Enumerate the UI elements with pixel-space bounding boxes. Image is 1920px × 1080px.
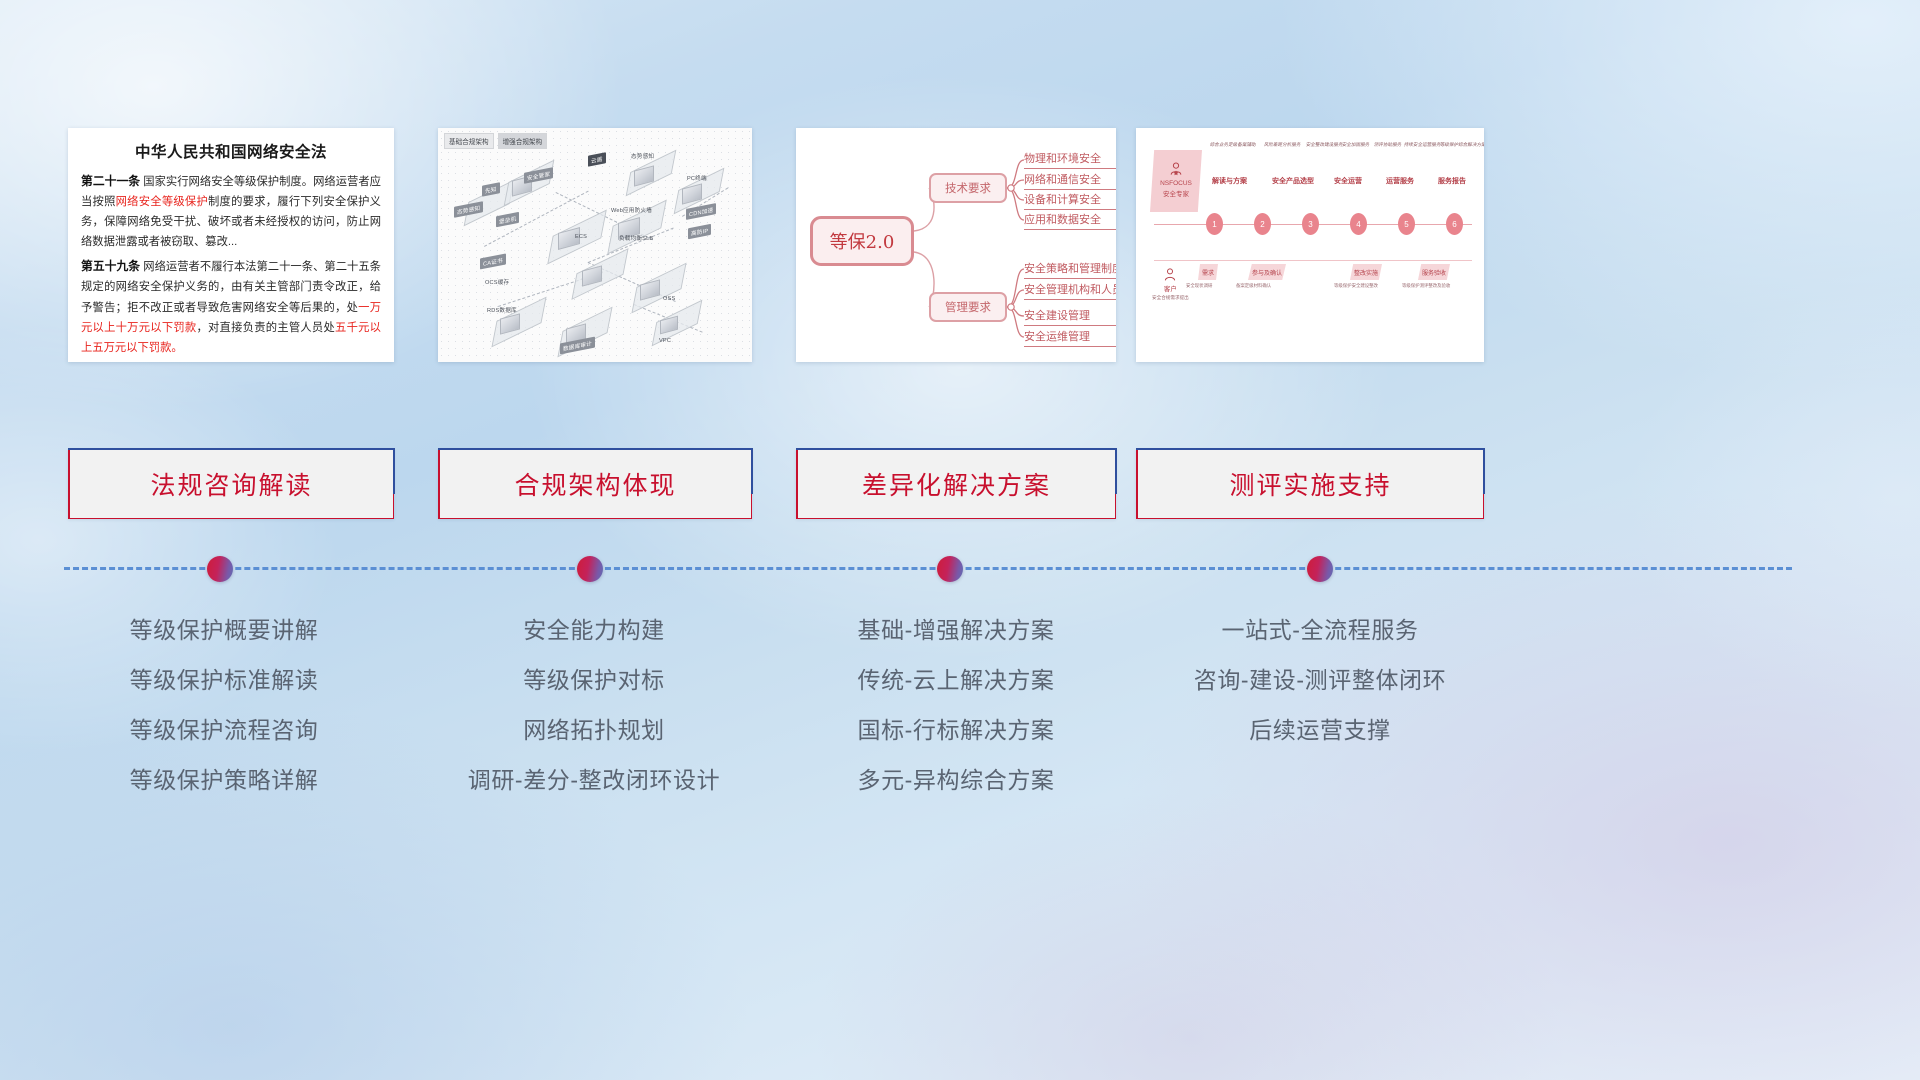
mindmap-branch-technical: 技术要求 [929, 173, 1007, 203]
roadmap-stage-label: 解读与方案 [1212, 176, 1247, 186]
illustration-cards-row: 中华人民共和国网络安全法 第二十一条 国家实行网络安全等级保护制度。网络运营者应… [0, 128, 1920, 362]
architecture-label-ocs: OCS缓存 [482, 276, 512, 287]
mindmap-branch-management: 管理要求 [929, 292, 1007, 322]
roadmap-stage-label: 运营服务 [1386, 176, 1414, 186]
law-article-59: 第五十九条 网络运营者不履行本法第二十一条、第二十五条规定的网络安全保护义务的，… [81, 256, 381, 357]
list-evaluation-support: 一站式-全流程服务 咨询-建设-测评整体闭环 后续运营支撑 [1146, 605, 1494, 755]
architecture-label-oss: OSS [660, 294, 678, 303]
roadmap-step-1: 1 [1206, 213, 1223, 235]
roadmap-tag-requirement: 需求 [1198, 264, 1218, 280]
list-item: 等级保护概要讲解 [54, 605, 394, 655]
list-compliance-architecture: 安全能力构建 等级保护对标 网络拓扑规划 调研-差分-整改闭环设计 [424, 605, 764, 805]
card-compliance-architecture: 基础合规架构 增强合规架构 [438, 128, 752, 362]
section-headings-row: 法规咨询解读 合规架构体现 差异化解决方案 测评实施支持 [0, 449, 1920, 519]
roadmap-diagram: NSFOCUS 安全专家 综合业务定级备案辅助 风险差距分析服务 安全整改建设服… [1136, 128, 1484, 362]
roadmap-tag-confirm: 参与及确认 [1248, 264, 1286, 280]
roadmap-tagsub-requirement: 安全现状调研 [1186, 283, 1212, 289]
roadmap-expert-badge: NSFOCUS 安全专家 [1150, 150, 1202, 212]
heading-top-accent [1136, 448, 1484, 450]
mindmap-leaf-construction-mgmt: 安全建设管理 [1024, 307, 1116, 326]
law-document: 中华人民共和国网络安全法 第二十一条 国家实行网络安全等级保护制度。网络运营者应… [68, 128, 394, 358]
mindmap-leaf-ops-mgmt: 安全运维管理 [1024, 328, 1116, 347]
roadmap-top-label: 测评协助服务 [1374, 142, 1403, 148]
roadmap-tagsub-acceptance: 等级保护测评整改及验收 [1402, 283, 1450, 289]
card-nsfocus-roadmap: NSFOCUS 安全专家 综合业务定级备案辅助 风险差距分析服务 安全整改建设服… [1136, 128, 1484, 362]
law-article-59-number: 第五十九条 [81, 259, 140, 273]
mindmap-leaf-device-compute: 设备和计算安全 [1024, 191, 1116, 210]
list-item: 咨询-建设-测评整体闭环 [1146, 655, 1494, 705]
list-regulation-consulting: 等级保护概要讲解 等级保护标准解读 等级保护流程咨询 等级保护策略详解 [54, 605, 394, 805]
list-item: 传统-云上解决方案 [786, 655, 1126, 705]
mindmap: 等保2.0 技术要求 管理要求 物理和环境安全 网络和通信安全 设备和计算安全 … [796, 128, 1116, 362]
law-title: 中华人民共和国网络安全法 [81, 140, 381, 162]
roadmap-top-label: 持续安全运营服务 [1404, 142, 1442, 148]
architecture-label-vpc: VPC [656, 336, 674, 345]
roadmap-top-label: 综合业务定级备案辅助 [1210, 142, 1257, 148]
architecture-tabs: 基础合规架构 增强合规架构 [444, 133, 547, 149]
roadmap-stage-label: 安全产品选型 [1272, 176, 1314, 186]
person-star-icon [1169, 162, 1183, 178]
list-item: 基础-增强解决方案 [786, 605, 1126, 655]
roadmap-customer-label: 客户 [1152, 285, 1189, 294]
roadmap-tagsub-confirm: 备案定级材料确认 [1236, 283, 1271, 289]
roadmap-step-6: 6 [1446, 213, 1463, 235]
list-item: 调研-差分-整改闭环设计 [424, 755, 764, 805]
roadmap-step-4: 4 [1350, 213, 1367, 235]
roadmap-customer-sub: 安全合规需求提出 [1152, 295, 1189, 302]
tab-basic-architecture[interactable]: 基础合规架构 [444, 133, 494, 149]
list-differentiated-solution: 基础-增强解决方案 传统-云上解决方案 国标-行标解决方案 多元-异构综合方案 [786, 605, 1126, 805]
architecture-diagram: 基础合规架构 增强合规架构 [438, 128, 752, 362]
law-article-21: 第二十一条 国家实行网络安全等级保护制度。网络运营者应当按照网络安全等级保护制度… [81, 171, 381, 252]
list-item: 国标-行标解决方案 [786, 705, 1126, 755]
heading-box-compliance-architecture[interactable]: 合规架构体现 [438, 449, 752, 519]
heading-right-accent [1483, 448, 1485, 494]
roadmap-step-3: 3 [1302, 213, 1319, 235]
mindmap-leaf-network-comm: 网络和通信安全 [1024, 171, 1116, 190]
list-item: 等级保护标准解读 [54, 655, 394, 705]
heading-top-accent [68, 448, 394, 450]
roadmap-tagsub-rectify: 等级保护安全建设整改 [1334, 283, 1378, 289]
mindmap-leaf-physical-env: 物理和环境安全 [1024, 150, 1116, 169]
timeline-dot-4[interactable] [1307, 556, 1333, 582]
architecture-label-rds: RDS数据库 [484, 304, 520, 315]
roadmap-step-2: 2 [1254, 213, 1271, 235]
roadmap-badge-line2: 安全专家 [1163, 190, 1189, 200]
architecture-label-situation-2: 态势感知 [628, 150, 657, 161]
timeline-dashed-line [64, 567, 1792, 570]
heading-right-accent [1115, 448, 1117, 494]
timeline-dot-1[interactable] [207, 556, 233, 582]
list-item: 网络拓扑规划 [424, 705, 764, 755]
roadmap-top-label: 风险差距分析服务 [1264, 142, 1302, 148]
list-item: 安全能力构建 [424, 605, 764, 655]
heading-right-accent [393, 448, 395, 494]
list-item: 等级保护对标 [424, 655, 764, 705]
list-item: 多元-异构综合方案 [786, 755, 1126, 805]
heading-top-accent [438, 448, 752, 450]
card-dengbao-mindmap: 等保2.0 技术要求 管理要求 物理和环境安全 网络和通信安全 设备和计算安全 … [796, 128, 1116, 362]
architecture-label-pc-terminal: PC终端 [684, 172, 710, 183]
heading-label: 测评实施支持 [1229, 466, 1391, 502]
timeline-dot-2[interactable] [577, 556, 603, 582]
roadmap-customer: 客户 安全合规需求提出 [1152, 268, 1189, 302]
roadmap-top-label: 安全加固服务 [1342, 142, 1371, 148]
timeline-dot-3[interactable] [937, 556, 963, 582]
roadmap-tag-acceptance: 服务验收 [1418, 264, 1450, 280]
heading-label: 差异化解决方案 [862, 466, 1051, 502]
heading-right-accent [751, 448, 753, 494]
heading-label: 法规咨询解读 [150, 466, 312, 502]
list-item: 等级保护策略详解 [54, 755, 394, 805]
list-item: 后续运营支撑 [1146, 705, 1494, 755]
law-article-21-number: 第二十一条 [81, 174, 140, 188]
roadmap-stage-label: 服务报告 [1438, 176, 1466, 186]
roadmap-top-label: 等级保护综合解决方案 [1440, 142, 1484, 148]
list-item: 等级保护流程咨询 [54, 705, 394, 755]
customer-person-icon [1163, 268, 1177, 282]
heading-box-regulation-consulting[interactable]: 法规咨询解读 [68, 449, 394, 519]
roadmap-top-label: 安全整改建设服务 [1306, 142, 1344, 148]
architecture-label-slb: 负载均衡SLB [616, 232, 656, 243]
mindmap-root-node: 等保2.0 [810, 216, 914, 266]
roadmap-tag-rectify: 整改实施 [1350, 264, 1382, 280]
mindmap-leaf-org-personnel: 安全管理机构和人员 [1024, 281, 1116, 300]
timeline [0, 556, 1920, 586]
heading-box-differentiated-solution[interactable]: 差异化解决方案 [796, 449, 1116, 519]
roadmap-badge-line1: NSFOCUS [1160, 179, 1192, 189]
mindmap-leaf-policy-system: 安全策略和管理制度 [1024, 260, 1116, 279]
architecture-label-ecs: ECS [572, 232, 590, 241]
heading-top-accent [796, 448, 1116, 450]
heading-label: 合规架构体现 [514, 466, 676, 502]
mindmap-leaf-app-data: 应用和数据安全 [1024, 211, 1116, 230]
tab-enhanced-architecture[interactable]: 增强合规架构 [498, 133, 548, 149]
roadmap-customer-line [1154, 260, 1472, 261]
architecture-label-web-firewall: Web应用防火墙 [608, 204, 655, 215]
law-article-59-text-b: ，对直接负责的主管人员处 [196, 322, 335, 334]
heading-box-evaluation-support[interactable]: 测评实施支持 [1136, 449, 1484, 519]
card-cybersecurity-law: 中华人民共和国网络安全法 第二十一条 国家实行网络安全等级保护制度。网络运营者应… [68, 128, 394, 362]
list-item: 一站式-全流程服务 [1146, 605, 1494, 655]
roadmap-stage-label: 安全运营 [1334, 176, 1362, 186]
law-article-21-emphasis: 网络安全等级保护 [116, 196, 208, 208]
roadmap-step-5: 5 [1398, 213, 1415, 235]
